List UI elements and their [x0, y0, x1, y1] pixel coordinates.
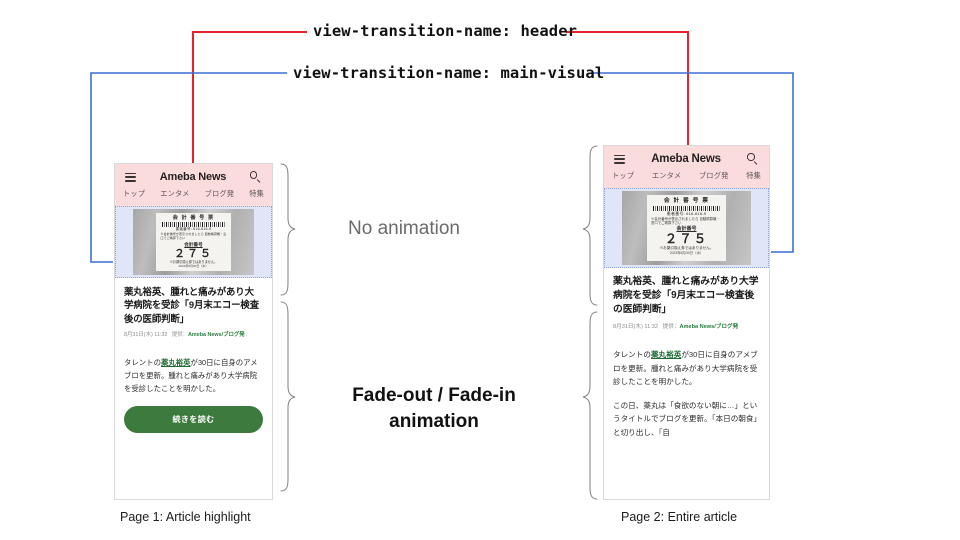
phone-nav-right: トップ エンタメ ブログ発 特集 — [604, 169, 769, 188]
article-text: タレントの薬丸裕英が30日に自身のアメブロを更新。腫れと痛みがあり大学病院を受診… — [124, 356, 263, 396]
caption-page2: Page 2: Entire article — [621, 510, 737, 524]
paragraph-pre: タレントの — [613, 350, 651, 359]
article-text: タレントの薬丸裕英が30日に自身のアメブロを更新。腫れと痛みがあり大学病院を受診… — [613, 348, 760, 439]
article-meta: 8月31日(木) 11:32 提供：Ameba News/ブログ発 — [124, 331, 263, 339]
ticket-title: 会 計 番 号 票 — [173, 216, 215, 221]
article-source[interactable]: Ameba News/ブログ発 — [679, 324, 738, 330]
main-visual-left: 会 計 番 号 票 患者番号: 616-616-9 ※会計番号が表示されましたら… — [115, 206, 272, 278]
nav-item-blog[interactable]: ブログ発 — [205, 189, 235, 199]
brand-logo[interactable]: Ameba News — [651, 153, 721, 165]
annotation-no-animation: No animation — [348, 218, 460, 240]
article-meta-prefix: 提供： — [172, 332, 188, 338]
ticket-number: ２７５ — [174, 249, 213, 260]
article-title[interactable]: 薬丸裕英、腫れと痛みがあり大学病院を受診「9月末エコー検査後の医師判断」 — [124, 285, 263, 325]
article-meta-prefix: 提供： — [663, 324, 680, 330]
receipt-ticket: 会 計 番 号 票 患者番号: 616-616-9 ※会計番号が表示されましたら… — [647, 195, 727, 260]
phone-mockup-page2: Ameba News トップ エンタメ ブログ発 特集 会 計 番 号 票 患者… — [603, 145, 770, 500]
ticket-title: 会 計 番 号 票 — [664, 198, 709, 204]
article-title[interactable]: 薬丸裕英、腫れと痛みがあり大学病院を受診「9月末エコー検査後の医師判断」 — [613, 275, 760, 317]
article-date: 8月31日(木) 11:32 — [124, 332, 167, 338]
ticket-note: ※会計番号が表示されましたら 自動精算機・窓口でご精算下さい — [160, 233, 226, 241]
receipt-ticket: 会 計 番 号 票 患者番号: 616-616-9 ※会計番号が表示されましたら… — [156, 213, 231, 271]
article-paragraph-1: タレントの薬丸裕英が30日に自身のアメブロを更新。腫れと痛みがあり大学病院を受診… — [613, 348, 760, 389]
article-photo: 会 計 番 号 票 患者番号: 616-616-9 ※会計番号が表示されましたら… — [133, 209, 254, 275]
barcode-icon — [653, 206, 721, 211]
annotation-fade-line1: Fade-out / Fade-in — [352, 385, 516, 406]
paragraph-pre: タレントの — [124, 358, 161, 367]
view-transition-name-main-visual-label: view-transition-name: main-visual — [293, 64, 604, 82]
phone-topbar-left: Ameba News — [115, 164, 272, 187]
phone-topbar-right: Ameba News — [604, 146, 769, 169]
article-photo: 会 計 番 号 票 患者番号: 616-616-9 ※会計番号が表示されましたら… — [622, 191, 751, 265]
ticket-date: 2023年8月30日（水） — [670, 252, 704, 256]
main-visual-right: 会 計 番 号 票 患者番号: 616-616-9 ※会計番号が表示されましたら… — [604, 188, 769, 268]
ticket-date: 2023年8月30日（水） — [179, 265, 209, 268]
phone-mockup-page1: Ameba News トップ エンタメ ブログ発 特集 会 計 番 号 票 患者… — [114, 163, 273, 500]
diagram-canvas: view-transition-name: header view-transi… — [0, 0, 960, 540]
caption-page1: Page 1: Article highlight — [120, 510, 251, 524]
read-more-button[interactable]: 続きを読む — [124, 406, 263, 433]
annotation-fade-line2: animation — [389, 411, 479, 432]
article-body-right: 薬丸裕英、腫れと痛みがあり大学病院を受診「9月末エコー検査後の医師判断」 8月3… — [604, 268, 769, 439]
phone-header-left: Ameba News トップ エンタメ ブログ発 特集 — [115, 164, 272, 206]
article-inline-link[interactable]: 薬丸裕英 — [161, 358, 191, 367]
nav-item-feature[interactable]: 特集 — [249, 189, 264, 199]
nav-item-top[interactable]: トップ — [612, 171, 634, 181]
ticket-number: ２７５ — [665, 233, 709, 246]
view-transition-name-header-label: view-transition-name: header — [313, 22, 577, 40]
phone-header-right: Ameba News トップ エンタメ ブログ発 特集 — [604, 146, 769, 188]
hamburger-icon[interactable] — [125, 173, 136, 182]
search-icon[interactable] — [747, 153, 759, 165]
article-date: 8月31日(木) 11:32 — [613, 324, 658, 330]
phone-nav-left: トップ エンタメ ブログ発 特集 — [115, 187, 272, 206]
nav-item-top[interactable]: トップ — [123, 189, 145, 199]
article-meta: 8月31日(木) 11:32 提供：Ameba News/ブログ発 — [613, 323, 760, 331]
article-paragraph-1: タレントの薬丸裕英が30日に自身のアメブロを更新。腫れと痛みがあり大学病院を受診… — [124, 356, 263, 396]
article-paragraph-2: この日、薬丸は「食欲のない朝に…」というタイトルでブログを更新。「本日の朝食」と… — [613, 399, 760, 440]
nav-item-entame[interactable]: エンタメ — [652, 171, 681, 181]
article-body-left: 薬丸裕英、腫れと痛みがあり大学病院を受診「9月末エコー検査後の医師判断」 8月3… — [115, 278, 272, 396]
ticket-label: 会計番号 — [184, 243, 202, 248]
ticket-patient-no: 患者番号: 616-616-9 — [667, 212, 706, 216]
nav-item-blog[interactable]: ブログ発 — [699, 171, 729, 181]
article-inline-link[interactable]: 薬丸裕英 — [651, 350, 681, 359]
hamburger-icon[interactable] — [614, 155, 625, 164]
ticket-note: ※会計番号が表示されましたら 自動精算機・窓口でご精算下さい — [651, 217, 722, 226]
article-source[interactable]: Ameba News/ブログ発 — [188, 332, 245, 338]
nav-item-entame[interactable]: エンタメ — [160, 189, 189, 199]
search-icon[interactable] — [250, 171, 262, 183]
annotation-fade-animation: Fade-out / Fade-in animation — [330, 383, 538, 434]
nav-item-feature[interactable]: 特集 — [746, 171, 761, 181]
brand-logo[interactable]: Ameba News — [160, 171, 226, 183]
